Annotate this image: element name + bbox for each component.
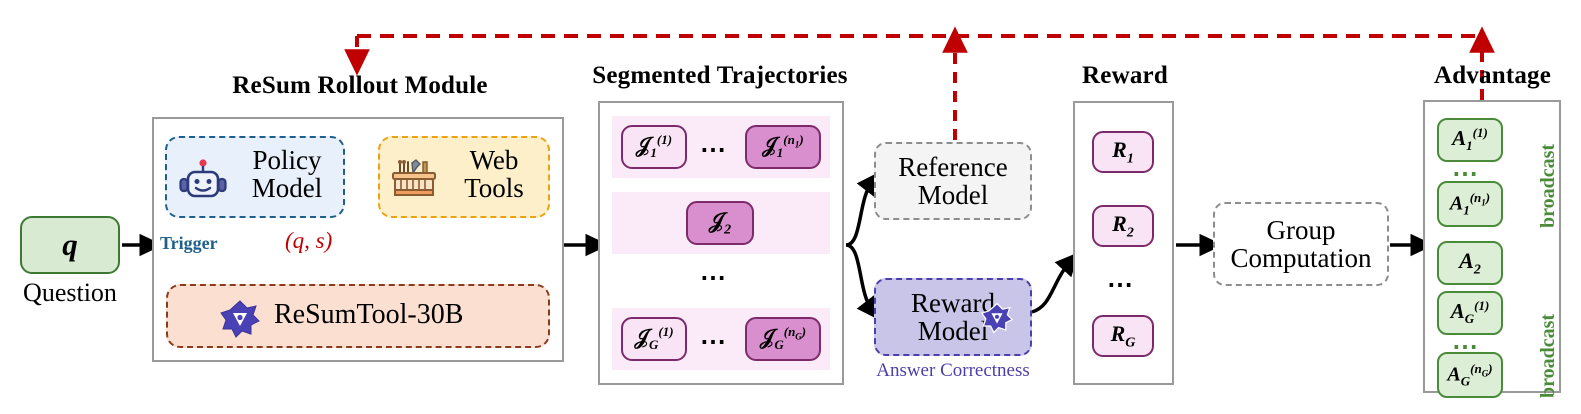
trajectory-row-3-ellipsis: ⋯: [700, 329, 729, 355]
advantage-label: AG(nG): [1447, 361, 1492, 390]
advantage-item-G-n: AG(nG): [1437, 352, 1503, 398]
web-tools-label: Web Tools: [442, 146, 546, 203]
reference-model-label-line2: Model: [898, 181, 1007, 209]
trajectory-label: 𝒥1(1): [636, 132, 672, 161]
web-tools-label-line2: Tools: [442, 174, 546, 202]
trajectory-label: 𝒥G(1): [634, 324, 673, 353]
broadcast-label-bottom: broadcast: [1537, 288, 1560, 398]
answer-correctness-label: Answer Correctness: [866, 360, 1040, 382]
policy-model-box[interactable]: Policy Model: [165, 136, 345, 218]
robot-icon: [179, 156, 227, 204]
section-title-advantage: Advantage: [1410, 62, 1575, 90]
trajectory-label: 𝒥2: [709, 208, 731, 238]
advantage-item-G-1: AG(1): [1437, 291, 1503, 335]
trajectory-label: 𝒥1(n1): [762, 132, 803, 161]
resumtool-box[interactable]: ReSumTool-30B: [166, 284, 550, 348]
reward-ellipsis: ⋯: [1107, 272, 1136, 298]
question-symbol: q: [62, 227, 78, 263]
trigger-label: Trigger: [160, 233, 218, 254]
trajectory-segment-G-last: 𝒥G(nG): [745, 317, 821, 361]
advantage-label: AG(1): [1451, 298, 1490, 327]
resumtool-label: ReSumTool-30B: [274, 300, 510, 329]
reference-model-box[interactable]: Reference Model: [874, 142, 1032, 220]
web-tools-box[interactable]: Web Tools: [378, 136, 550, 218]
reference-model-label-line1: Reference: [898, 153, 1007, 181]
section-title-segmented: Segmented Trajectories: [580, 62, 860, 90]
advantage-label: A2: [1459, 248, 1481, 278]
reference-model-label: Reference Model: [898, 153, 1007, 210]
policy-model-label-line1: Policy: [233, 146, 341, 174]
group-computation-label: Group Computation: [1231, 216, 1372, 273]
reward-model-box[interactable]: Reward Model: [874, 278, 1032, 356]
reward-item-G: RG: [1092, 315, 1154, 357]
policy-model-label-line2: Model: [233, 174, 341, 202]
reward-label: RG: [1111, 321, 1136, 351]
group-computation-label-line1: Group: [1231, 216, 1372, 244]
broadcast-label-top: broadcast: [1537, 118, 1560, 228]
advantage-label: A1(n1): [1450, 190, 1490, 219]
question-caption: Question: [6, 278, 134, 308]
section-title-reward: Reward: [1060, 62, 1190, 90]
advantage-item-1-n: A1(n1): [1437, 181, 1503, 227]
advantage-item-2: A2: [1437, 241, 1503, 285]
trajectory-segment-2: 𝒥2: [686, 201, 754, 245]
reward-item-1: R1: [1092, 131, 1154, 173]
trajectory-row-1-ellipsis: ⋯: [700, 137, 729, 163]
policy-model-label: Policy Model: [233, 146, 341, 203]
group-computation-label-line2: Computation: [1231, 244, 1372, 272]
trajectory-segment-1-first: 𝒥1(1): [621, 125, 687, 169]
trajectory-rows-ellipsis: ⋯: [700, 265, 729, 291]
reward-label: R2: [1112, 211, 1134, 241]
qs-label: (q, s): [285, 228, 332, 254]
advantage-item-1-1: A1(1): [1437, 118, 1503, 162]
reward-item-2: R2: [1092, 205, 1154, 247]
web-tools-label-line1: Web: [442, 146, 546, 174]
diagram-canvas: ReSum Rollout Module Segmented Trajector…: [0, 0, 1581, 414]
toolbox-icon: [390, 158, 438, 200]
tongyi-logo-icon: [220, 299, 260, 339]
trajectory-label: 𝒥G(nG): [760, 324, 806, 353]
question-input-box: q: [20, 216, 120, 274]
reward-label: R1: [1112, 137, 1134, 167]
trajectory-segment-G-first: 𝒥G(1): [621, 317, 687, 361]
trajectory-segment-1-last: 𝒥1(n1): [745, 125, 821, 169]
tongyi-logo-icon: [981, 302, 1013, 334]
advantage-label: A1(1): [1452, 125, 1488, 154]
group-computation-box[interactable]: Group Computation: [1213, 202, 1389, 286]
section-title-rollout: ReSum Rollout Module: [155, 72, 565, 100]
